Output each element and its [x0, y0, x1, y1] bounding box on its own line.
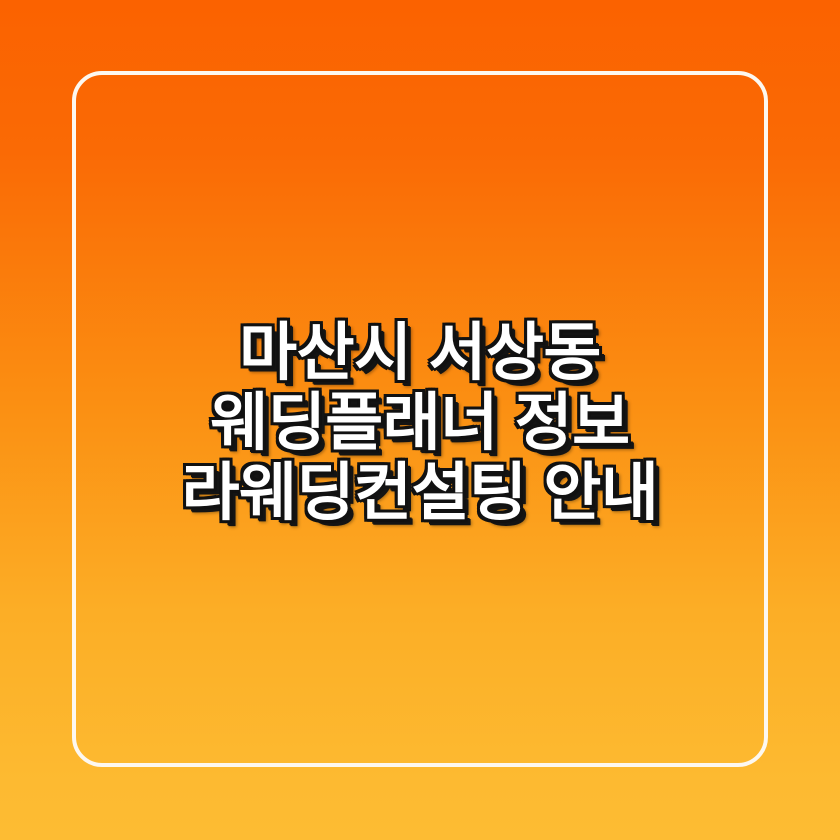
headline-line-1: 마산시 서상동 — [0, 318, 840, 388]
headline-text-block: 마산시 서상동 웨딩플래너 정보 라웨딩컨설팅 안내 — [0, 318, 840, 528]
promo-banner: 마산시 서상동 웨딩플래너 정보 라웨딩컨설팅 안내 — [0, 0, 840, 840]
headline-line-2: 웨딩플래너 정보 — [0, 388, 840, 458]
rounded-border-frame — [72, 71, 768, 767]
headline-line-3: 라웨딩컨설팅 안내 — [0, 458, 840, 528]
